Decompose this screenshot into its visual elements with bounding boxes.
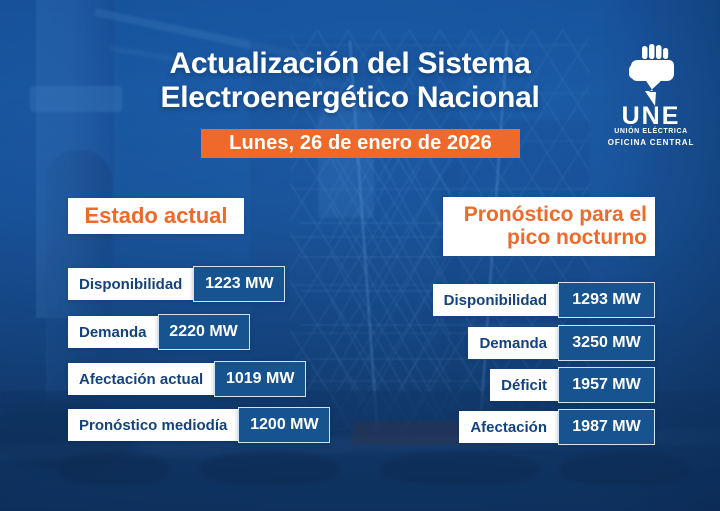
table-row: Demanda 2220 MW [68, 316, 250, 348]
page-title-line-2: Electroenergético Nacional [120, 81, 580, 115]
table-row: Pronóstico mediodía 1200 MW [68, 409, 330, 441]
panel-left-heading: Estado actual [68, 198, 244, 234]
infographic-canvas: Actualización del Sistema Electroenergét… [0, 0, 720, 511]
une-logo-subtitle-1: UNIÓN ELÉCTRICA [596, 128, 706, 135]
page-title-line-1: Actualización del Sistema [170, 47, 531, 80]
table-row: Demanda 3250 MW [430, 327, 655, 359]
table-row: Déficit 1957 MW [430, 369, 655, 401]
table-row: Disponibilidad 1223 MW [68, 268, 285, 300]
metric-label: Pronóstico mediodía [68, 409, 238, 441]
une-logo: UNE UNIÓN ELÉCTRICA OFICINA CENTRAL [596, 44, 706, 144]
metric-label: Disponibilidad [68, 268, 193, 300]
table-row: Disponibilidad 1293 MW [430, 284, 655, 316]
metric-value: 1200 MW [238, 407, 330, 443]
fist-with-lightning-bolt-icon [622, 44, 680, 106]
metric-label: Disponibilidad [433, 284, 558, 316]
metric-label: Demanda [68, 316, 158, 348]
metric-value: 1019 MW [214, 361, 306, 397]
metric-label: Afectación actual [68, 363, 214, 395]
metric-value: 3250 MW [558, 325, 655, 361]
table-row: Afectación actual 1019 MW [68, 363, 306, 395]
panel-right-heading-label: Pronóstico para el pico nocturno [464, 204, 647, 248]
metric-value: 2220 MW [158, 314, 250, 350]
metric-value: 1957 MW [558, 367, 655, 403]
metric-value: 1223 MW [193, 266, 285, 302]
page-title: Actualización del Sistema Electroenergét… [120, 47, 580, 115]
metric-label: Demanda [468, 327, 558, 359]
panel-right-heading-line-2: pico nocturno [507, 226, 647, 249]
metric-value: 1293 MW [558, 282, 655, 318]
table-row: Afectación 1987 MW [430, 411, 655, 443]
panel-left-heading-label: Estado actual [84, 204, 227, 227]
panel-right-heading-line-1: Pronóstico para el [464, 203, 647, 226]
date-badge-label: Lunes, 26 de enero de 2026 [229, 132, 492, 155]
metric-value: 1987 MW [558, 409, 655, 445]
une-logo-acronym: UNE [596, 104, 706, 129]
une-logo-subtitle-2: OFICINA CENTRAL [596, 138, 706, 147]
date-badge: Lunes, 26 de enero de 2026 [201, 129, 520, 158]
panel-right-heading: Pronóstico para el pico nocturno [443, 197, 655, 256]
metric-label: Déficit [490, 369, 558, 401]
metric-label: Afectación [459, 411, 558, 443]
